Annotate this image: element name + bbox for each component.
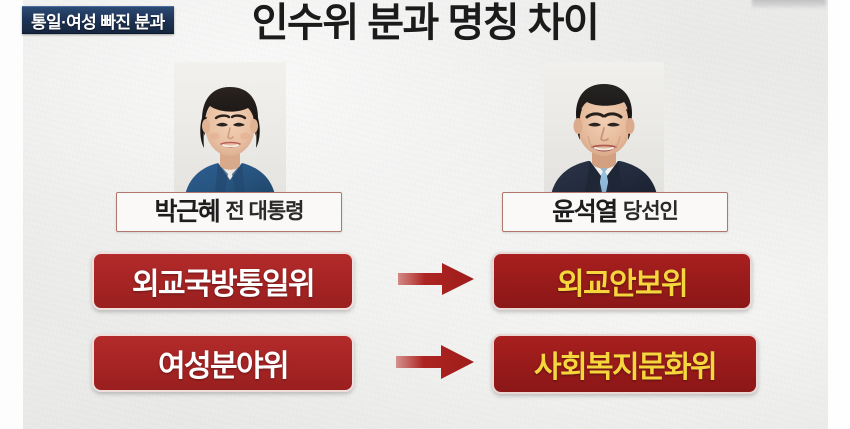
arrow-right-glyph-1 — [398, 262, 474, 296]
old-committee-box-2: 여성분야위 — [92, 334, 354, 392]
portrait-right-image — [544, 62, 664, 202]
arrow-right-icon-1 — [398, 262, 474, 296]
right-edge-strip — [828, 0, 850, 429]
arrow-right-icon-2 — [396, 344, 474, 380]
old-committee-label-2: 여성분야위 — [158, 341, 288, 385]
portrait-park-geun-hye — [174, 62, 286, 202]
person-name-left: 박근혜 — [155, 199, 220, 225]
new-committee-label-2: 사회복지문화위 — [534, 342, 716, 386]
old-committee-box-1: 외교국방통일위 — [92, 252, 354, 310]
person-name-right: 윤석열 — [552, 199, 617, 225]
old-committee-label-1: 외교국방통일위 — [132, 259, 314, 303]
portrait-yoon-suk-yeol — [544, 62, 664, 202]
left-edge-strip — [0, 0, 23, 429]
arrow-right-glyph-2 — [396, 344, 474, 380]
news-graphic-screen: 인수위 분과 명칭 차이 통일·여성 빠진 분과 — [0, 0, 850, 429]
headline-badge-label: 통일·여성 빠진 분과 — [31, 8, 165, 33]
new-committee-box-1: 외교안보위 — [492, 252, 752, 310]
portrait-left-image — [174, 62, 286, 202]
name-plate-left: 박근혜 전 대통령 — [116, 192, 342, 232]
new-committee-box-2: 사회복지문화위 — [492, 334, 758, 394]
headline-badge: 통일·여성 빠진 분과 — [22, 6, 174, 34]
person-title-left: 전 대통령 — [225, 200, 303, 224]
new-committee-label-1: 외교안보위 — [557, 259, 687, 303]
person-title-right: 당선인 — [623, 200, 678, 224]
name-plate-right: 윤석열 당선인 — [502, 192, 728, 232]
